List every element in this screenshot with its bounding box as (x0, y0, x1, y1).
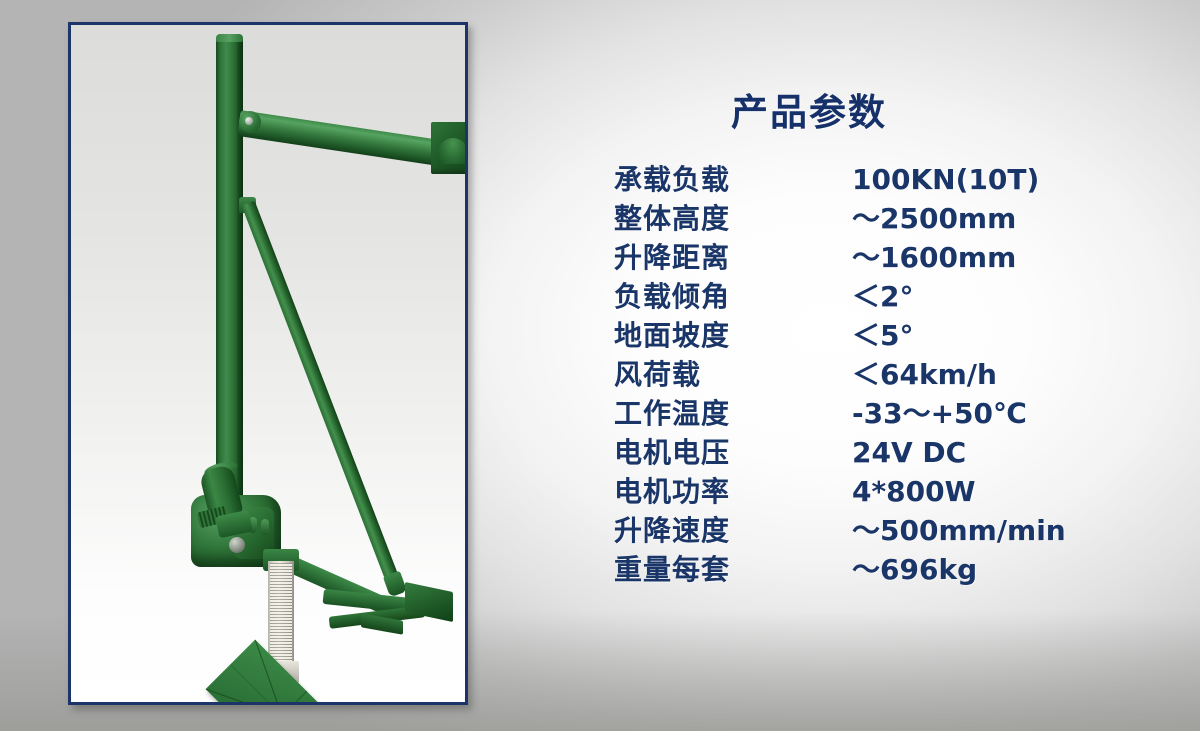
gearbox-rib (261, 519, 269, 535)
spec-label: 负载倾角 (614, 280, 852, 319)
screw-jack-machine-illustration (71, 25, 465, 702)
spec-value: ～1600mm (852, 241, 1066, 280)
spec-table: 承载负载 100KN(10T) 整体高度 ～2500mm 升降距离 ～1600m… (614, 163, 1066, 592)
table-row: 负载倾角 ＜2° (614, 280, 1066, 319)
spec-label: 升降距离 (614, 241, 852, 280)
page-title: 产品参数 (574, 94, 1044, 133)
product-photo (71, 25, 465, 702)
table-row: 重量每套 ～696kg (614, 553, 1066, 592)
spec-value: 4*800W (852, 475, 1066, 514)
boom-bolt (245, 117, 253, 125)
spec-value: ～2500mm (852, 202, 1066, 241)
spec-value: 24V DC (852, 436, 1066, 475)
spec-label: 电机功率 (614, 475, 852, 514)
spec-value: ～696kg (852, 553, 1066, 592)
table-row: 地面坡度 ＜5° (614, 319, 1066, 358)
table-row: 升降距离 ～1600mm (614, 241, 1066, 280)
boom-end-plate (431, 122, 468, 174)
spec-value: ＜2° (852, 280, 1066, 319)
table-row: 工作温度 -33～+50℃ (614, 397, 1066, 436)
screw-threads (270, 563, 292, 673)
spec-label: 整体高度 (614, 202, 852, 241)
spec-label: 工作温度 (614, 397, 852, 436)
table-row: 风荷载 ＜64km/h (614, 358, 1066, 397)
spec-value: ～500mm/min (852, 514, 1066, 553)
spec-label: 地面坡度 (614, 319, 852, 358)
spec-label: 重量每套 (614, 553, 852, 592)
gearbox-hub (229, 537, 245, 553)
spec-value: ＜64km/h (852, 358, 1066, 397)
table-row: 承载负载 100KN(10T) (614, 163, 1066, 202)
spec-block: 产品参数 承载负载 100KN(10T) 整体高度 ～2500mm 升降距离 ～… (560, 80, 1160, 592)
spec-label: 电机电压 (614, 436, 852, 475)
leg-hinge (383, 571, 407, 598)
spec-label: 承载负载 (614, 163, 852, 202)
spec-label: 风荷载 (614, 358, 852, 397)
slide-root: 产品参数 承载负载 100KN(10T) 整体高度 ～2500mm 升降距离 ～… (0, 0, 1200, 731)
boom-arm (237, 110, 449, 167)
product-image-panel (68, 22, 468, 705)
spec-value: -33～+50℃ (852, 397, 1066, 436)
table-row: 整体高度 ～2500mm (614, 202, 1066, 241)
mast-cap (216, 34, 243, 42)
spec-value: 100KN(10T) (852, 163, 1066, 202)
table-row: 电机电压 24V DC (614, 436, 1066, 475)
spec-value: ＜5° (852, 319, 1066, 358)
table-row: 升降速度 ～500mm/min (614, 514, 1066, 553)
table-row: 电机功率 4*800W (614, 475, 1066, 514)
spec-label: 升降速度 (614, 514, 852, 553)
